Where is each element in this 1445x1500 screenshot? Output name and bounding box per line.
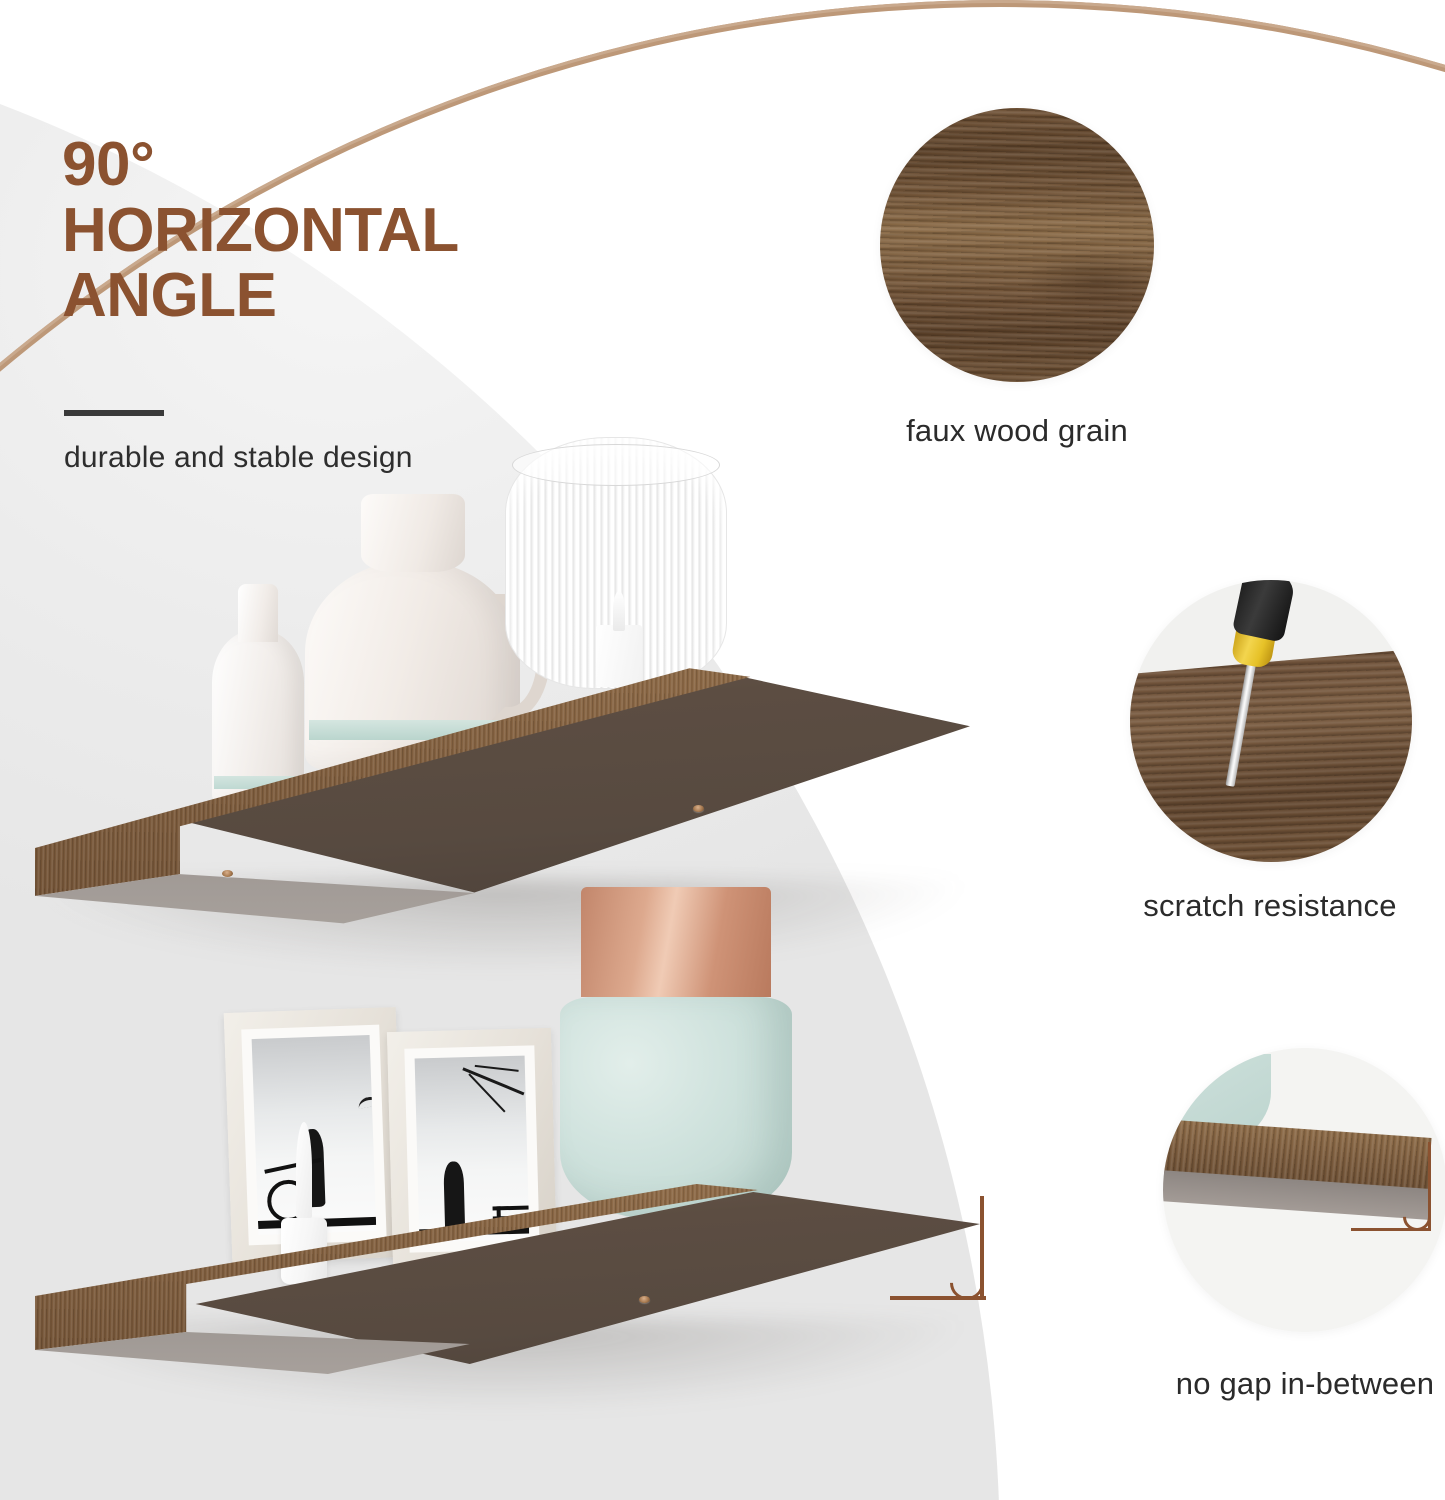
bottle-neck (238, 584, 278, 642)
scratch-resistance-icon (1130, 580, 1412, 862)
90-degree-corner-mark (1351, 1142, 1435, 1234)
feature-caption: faux wood grain (872, 413, 1162, 449)
headline-subtitle: durable and stable design (64, 441, 413, 475)
jug-neck (361, 494, 465, 572)
upper-floating-shelf (35, 645, 970, 935)
photo-branch (475, 1065, 519, 1072)
wood-grain-texture (880, 108, 1154, 382)
screwdriver-handle (1232, 580, 1297, 643)
90-degree-corner-mark (890, 1196, 990, 1304)
wood-knot (1022, 250, 1154, 314)
hurricane-rim (512, 444, 720, 486)
screwdriver-icon (1130, 580, 1412, 862)
shelf-screw-hole (693, 805, 704, 812)
feature-caption: no gap in-between (1155, 1366, 1445, 1402)
screwdriver-shaft (1225, 657, 1256, 787)
shelf-screw-hole (639, 1296, 650, 1303)
feature-scratch-resistance: scratch resistance (1120, 580, 1420, 930)
vase-copper-collar (581, 887, 771, 997)
headline-divider-rule (64, 410, 164, 416)
candle-flame-tip (613, 591, 625, 631)
faux-wood-grain-icon (880, 108, 1154, 382)
feature-no-gap-in-between: no gap in-between (1155, 1048, 1445, 1408)
feature-faux-wood-grain: faux wood grain (872, 108, 1162, 458)
page-headline: 90° HORIZONTAL ANGLE (62, 132, 459, 329)
lower-floating-shelf (35, 1180, 980, 1380)
no-gap-icon (1163, 1048, 1445, 1332)
feature-caption: scratch resistance (1120, 888, 1420, 924)
product-feature-graphic: 90° HORIZONTAL ANGLE durable and stable … (0, 0, 1445, 1500)
shelf-screw-hole (222, 870, 233, 877)
